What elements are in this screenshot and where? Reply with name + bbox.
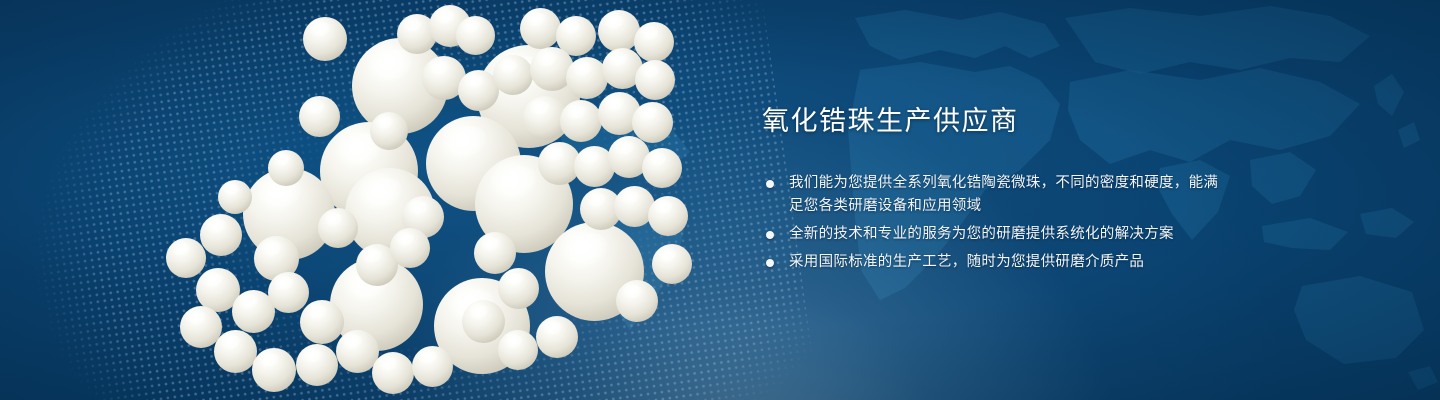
- feature-list-item-text: 全新的技术和专业的服务为您的研磨提供系统化的解决方案: [789, 226, 1174, 242]
- feature-list-item-text: 采用国际标准的生产工艺，随时为您提供研磨介质产品: [789, 254, 1144, 270]
- feature-list-item: 全新的技术和专业的服务为您的研磨提供系统化的解决方案: [762, 223, 1232, 246]
- feature-list: 我们能为您提供全系列氧化锆陶瓷微珠，不同的密度和硬度，能满足您各类研磨设备和应用…: [762, 172, 1232, 274]
- bullet-dot-icon: [766, 180, 774, 188]
- hero-banner: 氧化锆珠生产供应商 我们能为您提供全系列氧化锆陶瓷微珠，不同的密度和硬度，能满足…: [0, 0, 1440, 400]
- page-title: 氧化锆珠生产供应商: [762, 104, 1232, 138]
- feature-list-item: 采用国际标准的生产工艺，随时为您提供研磨介质产品: [762, 251, 1232, 274]
- bullet-dot-icon: [766, 231, 774, 239]
- bullet-dot-icon: [766, 259, 774, 267]
- feature-list-item-text: 我们能为您提供全系列氧化锆陶瓷微珠，不同的密度和硬度，能满足您各类研磨设备和应用…: [789, 175, 1218, 214]
- feature-list-item: 我们能为您提供全系列氧化锆陶瓷微珠，不同的密度和硬度，能满足您各类研磨设备和应用…: [762, 172, 1232, 218]
- banner-copy: 氧化锆珠生产供应商 我们能为您提供全系列氧化锆陶瓷微珠，不同的密度和硬度，能满足…: [762, 104, 1232, 279]
